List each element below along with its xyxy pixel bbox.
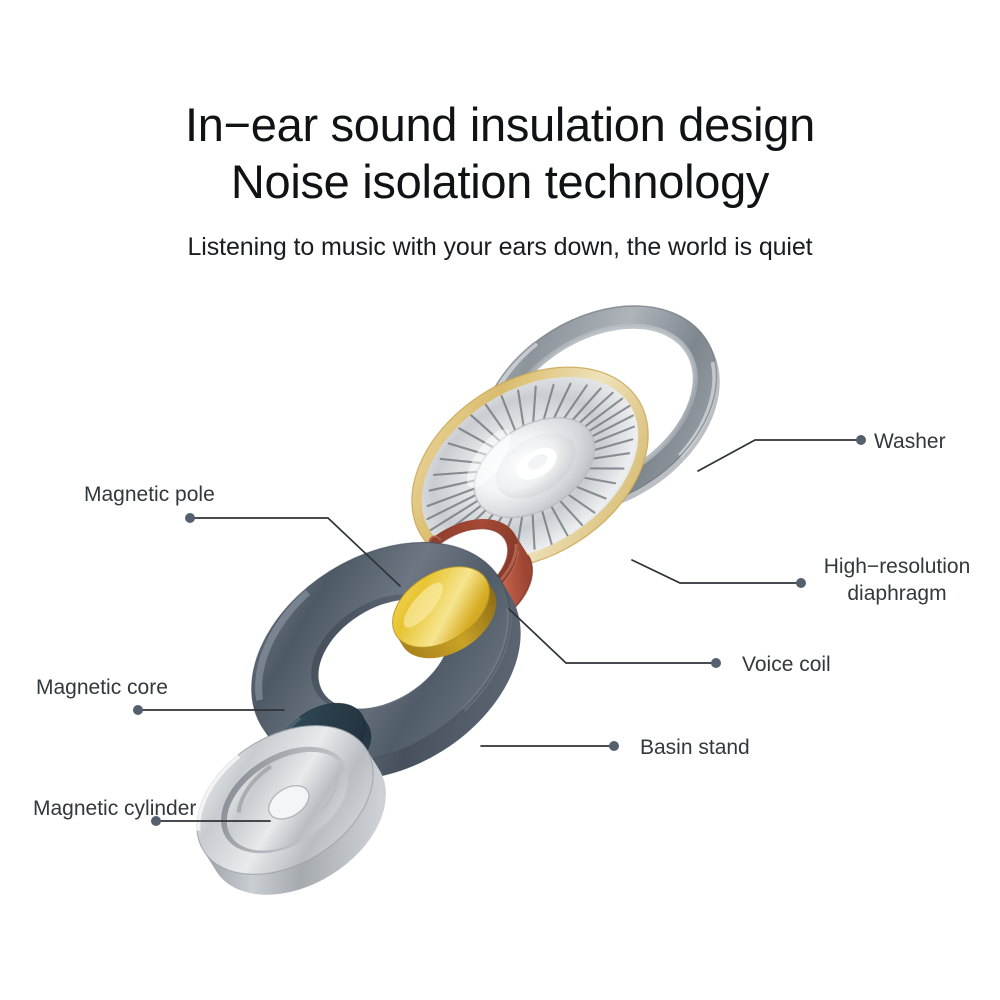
callout-label-magnetic-pole: Magnetic pole — [84, 481, 215, 508]
callout-label-washer: Washer — [874, 428, 946, 455]
callout-label-magnetic-core: Magnetic core — [36, 674, 168, 701]
leader-dot-magnetic-core — [133, 705, 143, 715]
callout-label-diaphragm-line-2: diaphragm — [812, 580, 982, 607]
callout-label-magnetic-cylinder: Magnetic cylinder — [33, 795, 196, 822]
leader-line-voice-coil — [509, 609, 714, 663]
callout-label-voice-coil: Voice coil — [742, 651, 831, 678]
leader-dot-washer — [856, 435, 866, 445]
callout-label-diaphragm: High−resolution diaphragm — [812, 553, 982, 607]
leader-line-diaphragm — [632, 560, 800, 583]
leader-line-washer — [698, 440, 859, 471]
leader-dot-magnetic-pole — [185, 513, 195, 523]
leader-dot-diaphragm — [796, 578, 806, 588]
page-root: In−ear sound insulation design Noise iso… — [0, 0, 1000, 1000]
callout-label-basin-stand: Basin stand — [640, 734, 750, 761]
leader-dot-voice-coil — [711, 658, 721, 668]
leader-dot-basin-stand — [609, 741, 619, 751]
callout-label-diaphragm-line-1: High−resolution — [812, 553, 982, 580]
